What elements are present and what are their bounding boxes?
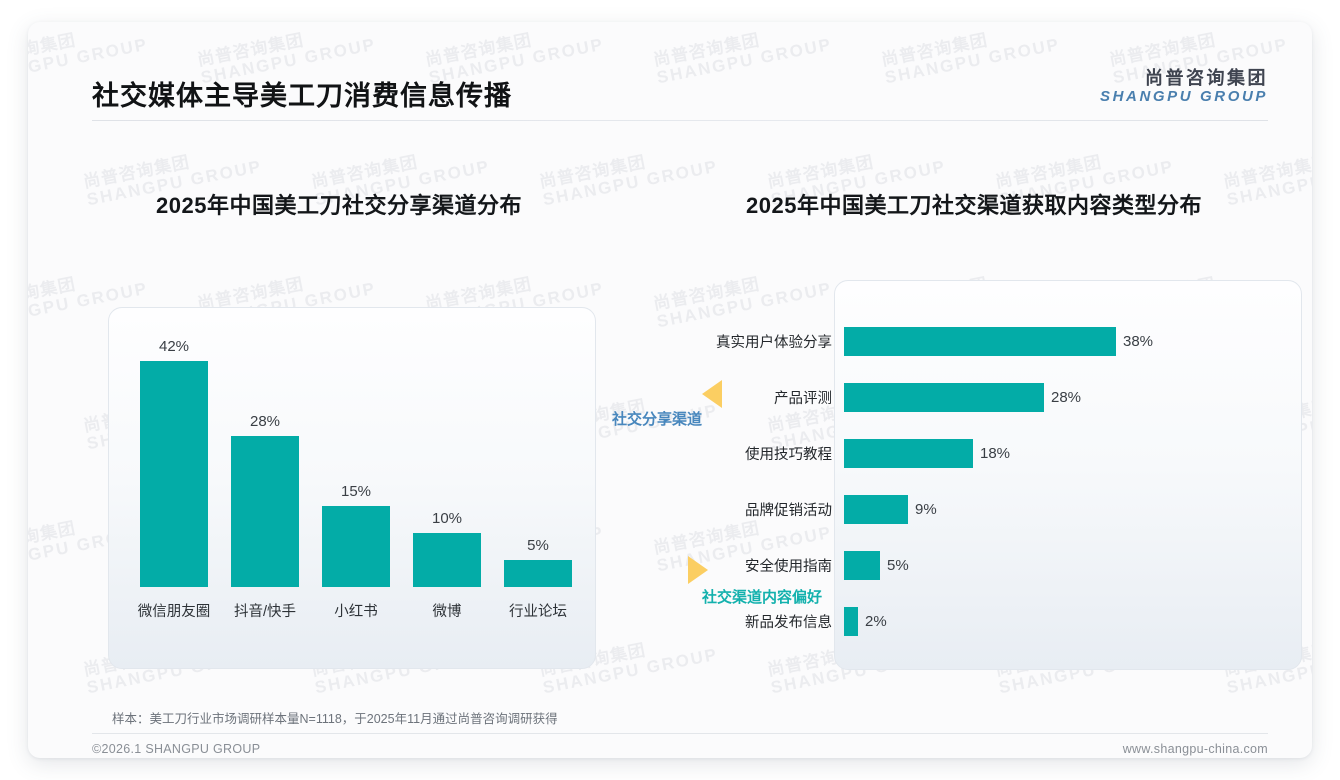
brand-logo: 尚普咨询集团 SHANGPU GROUP (1100, 68, 1268, 106)
triangle-left-icon (702, 380, 722, 408)
left-chart-title: 2025年中国美工刀社交分享渠道分布 (156, 188, 522, 220)
bar-rect (844, 495, 908, 524)
footer-divider (92, 733, 1268, 734)
footer-copyright: ©2026.1 SHANGPU GROUP (92, 742, 260, 756)
bar-row: 使用技巧教程18% (668, 436, 1188, 470)
bar-category-label: 使用技巧教程 (668, 443, 844, 464)
callout-share-channel-label: 社交分享渠道 (612, 408, 702, 429)
triangle-right-icon (688, 556, 708, 584)
bar-row: 品牌促销活动9% (668, 492, 1188, 526)
bar-row: 新品发布信息2% (668, 604, 1188, 638)
bar-value-label: 5% (880, 557, 909, 574)
logo-english-text: SHANGPU GROUP (1100, 89, 1268, 106)
bar-value-label: 2% (858, 613, 887, 630)
header-divider (92, 120, 1268, 121)
right-chart-title: 2025年中国美工刀社交渠道获取内容类型分布 (746, 188, 1202, 220)
bar-category-label: 真实用户体验分享 (668, 331, 844, 352)
bar-rect (844, 607, 858, 636)
bar-rect (844, 551, 880, 580)
callout-content-preference-label: 社交渠道内容偏好 (702, 586, 822, 607)
footer-website: www.shangpu-china.com (1123, 742, 1268, 756)
bar-value-label: 18% (973, 445, 1010, 462)
bar-rect (844, 383, 1044, 412)
bar-row: 真实用户体验分享38% (668, 324, 1188, 358)
slide-header: 社交媒体主导美工刀消费信息传播 尚普咨询集团 SHANGPU GROUP (28, 22, 1312, 122)
callout-share-channel: 社交分享渠道 (612, 380, 722, 430)
page-title: 社交媒体主导美工刀消费信息传播 (92, 74, 512, 113)
bar-value-label: 28% (1044, 389, 1081, 406)
bar-value-label: 38% (1116, 333, 1153, 350)
bar-row: 产品评测28% (668, 380, 1188, 414)
slide-canvas: 尚普咨询集团SHANGPU GROUP尚普咨询集团SHANGPU GROUP尚普… (28, 22, 1312, 758)
bar-category-label: 新品发布信息 (668, 611, 844, 632)
bar-value-label: 9% (908, 501, 937, 518)
bar-category-label: 品牌促销活动 (668, 499, 844, 520)
sample-source-note: 样本：美工刀行业市场调研样本量N=1118，于2025年11月通过尚普咨询调研获… (112, 708, 558, 727)
bar-rect (844, 439, 973, 468)
bar-rect (844, 327, 1116, 356)
logo-chinese-text: 尚普咨询集团 (1100, 68, 1268, 88)
callout-content-preference: 社交渠道内容偏好 (688, 556, 838, 608)
